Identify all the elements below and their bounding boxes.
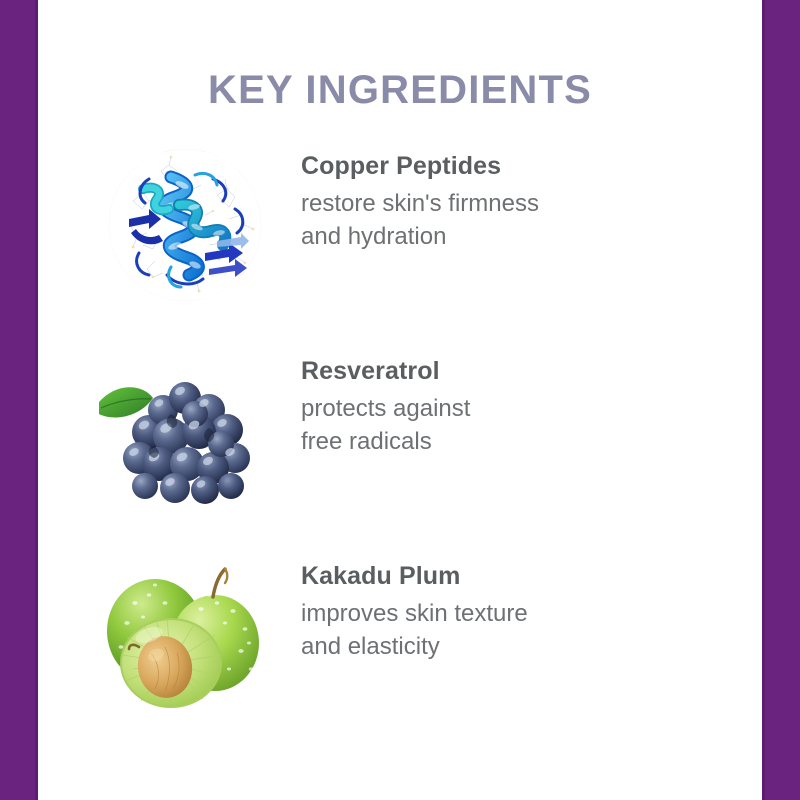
ingredient-text: Kakadu Plum improves skin texture and el… xyxy=(261,555,528,663)
ingredient-name: Kakadu Plum xyxy=(301,561,528,592)
ingredient-description: protects against free radicals xyxy=(301,392,470,458)
list-item: Kakadu Plum improves skin texture and el… xyxy=(41,555,759,760)
list-item: Copper Peptides restore skin's firmness … xyxy=(41,145,759,350)
left-purple-border xyxy=(0,0,38,800)
description-line-1: protects against xyxy=(301,395,470,422)
description-line-1: improves skin texture xyxy=(301,600,528,627)
ingredient-name: Resveratrol xyxy=(301,356,470,387)
description-line-1: restore skin's firmness xyxy=(301,190,539,217)
ingredient-text: Resveratrol protects against free radica… xyxy=(261,350,470,458)
right-purple-border xyxy=(762,0,800,800)
content-area: KEY INGREDIENTS xyxy=(41,0,759,800)
description-line-2: free radicals xyxy=(301,428,432,455)
description-line-2: and hydration xyxy=(301,223,446,250)
ingredient-thumb-wrap xyxy=(109,559,261,711)
ingredient-list: Copper Peptides restore skin's firmness … xyxy=(41,145,759,760)
ingredient-text: Copper Peptides restore skin's firmness … xyxy=(261,145,539,253)
ingredient-description: improves skin texture and elasticity xyxy=(301,597,528,663)
page-title: KEY INGREDIENTS xyxy=(41,68,759,113)
ingredient-thumb-wrap xyxy=(109,149,261,301)
ingredients-infographic: KEY INGREDIENTS xyxy=(0,0,800,800)
protein-ribbon-structure-image xyxy=(109,149,261,301)
list-item: Resveratrol protects against free radica… xyxy=(41,350,759,555)
green-plums-image xyxy=(109,559,261,711)
ingredient-name: Copper Peptides xyxy=(301,151,539,182)
description-line-2: and elasticity xyxy=(301,633,440,660)
ingredient-thumb-wrap xyxy=(109,354,261,506)
grapes-image xyxy=(109,354,261,506)
ingredient-description: restore skin's firmness and hydration xyxy=(301,187,539,253)
